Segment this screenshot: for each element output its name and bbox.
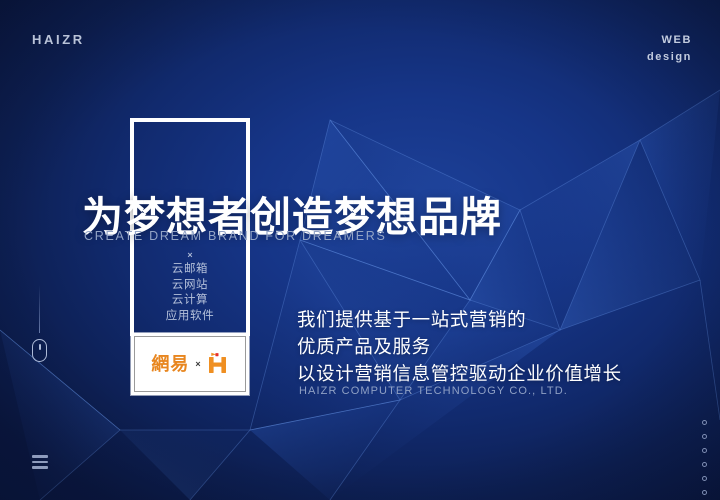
company-name-english: HAIZR COMPUTER TECHNOLOGY CO., LTD. xyxy=(299,385,568,397)
web-design-line1: WEB xyxy=(647,32,692,49)
cross-separator-icon: × xyxy=(130,250,250,260)
marketing-copy: 我们提供基于一站式营销的 优质产品及服务 以设计营销信息管控驱动企业价值增长 xyxy=(297,306,622,387)
partner-logo-box[interactable]: 網易 × xyxy=(131,333,249,395)
pagination-dot[interactable] xyxy=(702,476,707,481)
hero-slide: HAIZR WEB design 为梦想者创造梦想品牌 CREATE DREAM… xyxy=(0,0,720,500)
slide-pagination xyxy=(702,420,707,500)
pagination-dot[interactable] xyxy=(702,490,707,495)
service-menu: 云邮箱 云网站 云计算 应用软件 xyxy=(130,262,250,324)
haizr-h-logo-icon xyxy=(207,352,229,376)
pagination-dot[interactable] xyxy=(702,462,707,467)
background-vignette xyxy=(0,0,720,500)
brand-logo[interactable]: HAIZR xyxy=(32,32,85,47)
menu-item-cloud-website[interactable]: 云网站 xyxy=(130,278,250,294)
pagination-dot[interactable] xyxy=(702,448,707,453)
partner-logo-box-inner: 網易 × xyxy=(134,336,246,392)
netease-logo: 網易 xyxy=(151,355,189,373)
web-design-line2: design xyxy=(647,49,692,66)
menu-item-application-software[interactable]: 应用软件 xyxy=(130,309,250,325)
page-subtitle: CREATE DREAM BRAND FOR DREAMERS xyxy=(84,229,387,243)
pagination-dot[interactable] xyxy=(702,434,707,439)
pagination-dot[interactable] xyxy=(702,420,707,425)
menu-item-cloud-mail[interactable]: 云邮箱 xyxy=(130,262,250,278)
hamburger-bar xyxy=(32,466,48,469)
copy-line-2: 优质产品及服务 xyxy=(297,333,622,360)
copy-line-1: 我们提供基于一站式营销的 xyxy=(297,306,622,333)
hamburger-menu-icon[interactable] xyxy=(32,455,48,472)
mouse-scroll-icon[interactable] xyxy=(32,339,47,362)
hamburger-bar xyxy=(32,455,48,458)
copy-line-3: 以设计营销信息管控驱动企业价值增长 xyxy=(297,360,622,387)
hamburger-bar xyxy=(32,461,48,464)
rail-vertical-line xyxy=(39,285,40,333)
web-design-label: WEB design xyxy=(647,32,692,66)
menu-item-cloud-computing[interactable]: 云计算 xyxy=(130,293,250,309)
partnership-cross-icon: × xyxy=(195,360,200,369)
